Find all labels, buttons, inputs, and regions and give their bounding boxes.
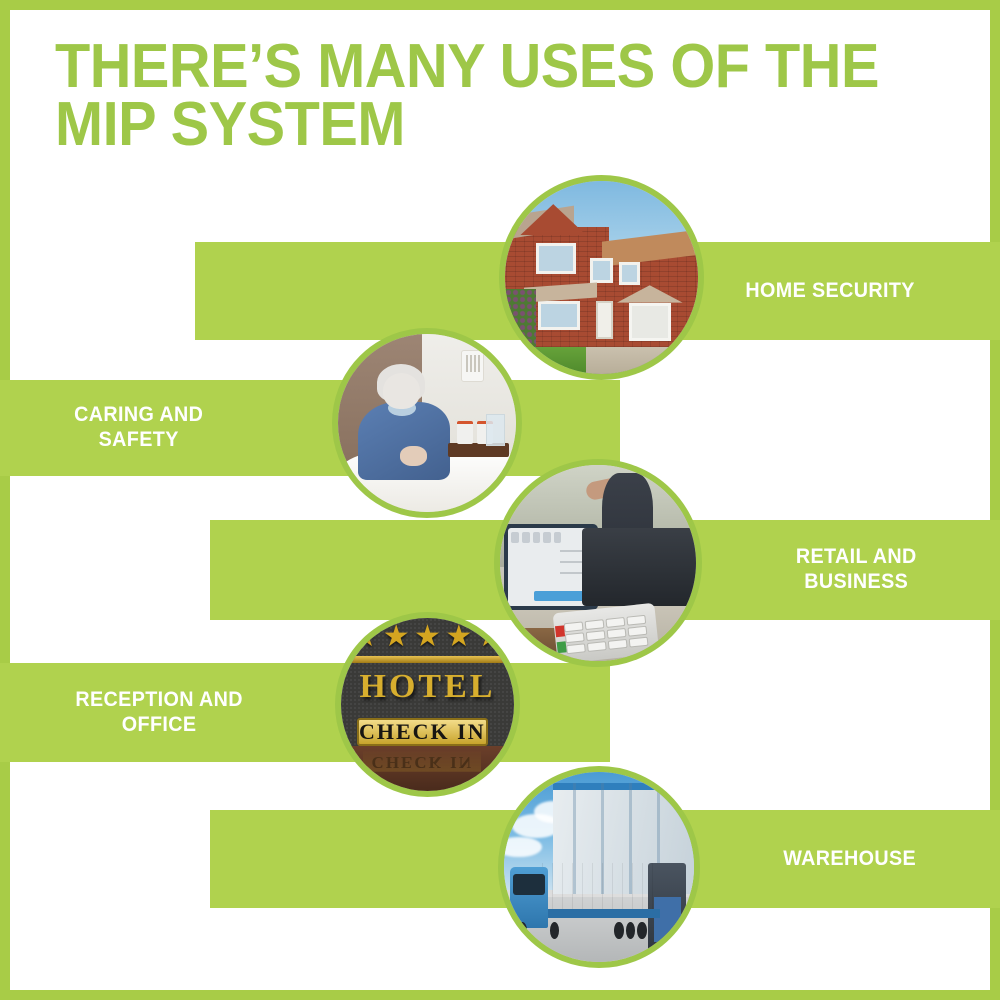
keypad: [564, 615, 648, 654]
bed-control-panel: [461, 350, 484, 382]
retail-pos-photo: [500, 465, 696, 661]
hotel-sign-text: HOTEL: [341, 668, 514, 706]
window-upper-middle: [590, 258, 613, 283]
trailer: [542, 863, 660, 912]
elderly-care-photo: [338, 334, 516, 512]
band-label-warehouse: WAREHOUSE: [783, 847, 916, 872]
band-label-caring-and-safety: CARING AND SAFETY: [74, 403, 203, 453]
band-label-home-security: HOME SECURITY: [745, 279, 914, 304]
cup-one: [457, 421, 473, 444]
card-payment-terminal: [552, 603, 659, 661]
pos-action-button: [534, 591, 587, 601]
hotel-checkin-photo: ★ ★ ★ ★ ★ HOTEL CHECK IN CHECK IN: [341, 618, 514, 791]
wheel: [550, 922, 560, 939]
check-in-plaque-reflection: CHECK IN: [363, 751, 481, 772]
photo-circle-retail-and-business: [494, 459, 702, 667]
star-icon: ★: [445, 622, 472, 652]
warehouse-truck-photo: [504, 772, 694, 962]
check-in-plaque: CHECK IN: [357, 718, 488, 746]
patient-hands: [400, 446, 427, 466]
patient-face: [383, 373, 420, 409]
infographic-poster: THERE’S MANY USES OF THE MIP SYSTEM HOME…: [0, 0, 1000, 1000]
wheel: [614, 922, 624, 939]
band-label-retail-and-business: RETAIL AND BUSINESS: [795, 545, 916, 595]
wheel: [637, 922, 647, 939]
star-icon: ★: [477, 622, 504, 652]
photo-circle-caring-and-safety: [332, 328, 522, 518]
window-upper-left: [536, 243, 577, 274]
cash-drawer: [582, 528, 696, 606]
truck-cab: [510, 867, 548, 928]
gold-trim-bar: [350, 656, 506, 663]
photo-circle-warehouse: [498, 766, 700, 968]
star-icon: ★: [351, 622, 378, 652]
garage-door: [629, 303, 671, 342]
trailer-chassis: [542, 909, 660, 919]
photo-circle-home-security: [499, 175, 704, 380]
water-glass: [486, 414, 506, 446]
window-lower-left: [538, 301, 580, 330]
hotel-star-rating: ★ ★ ★ ★ ★: [351, 623, 503, 651]
front-door: [596, 301, 613, 340]
check-in-plaque-text: CHECK IN: [359, 719, 486, 745]
star-icon: ★: [383, 622, 410, 652]
check-in-reflection-text: CHECK IN: [372, 752, 473, 772]
window-upper-right: [619, 262, 640, 285]
band-caring-and-safety: CARING AND SAFETY: [0, 380, 620, 476]
photo-circle-reception-and-office: ★ ★ ★ ★ ★ HOTEL CHECK IN CHECK IN: [335, 612, 520, 797]
windshield: [513, 874, 545, 895]
star-icon: ★: [414, 622, 441, 652]
page-title: THERE’S MANY USES OF THE MIP SYSTEM: [55, 38, 901, 153]
wheel: [517, 922, 527, 939]
band-label-reception-and-office: RECEPTION AND OFFICE: [75, 688, 243, 738]
pos-screen-buttons: [511, 532, 561, 542]
pos-screen: [508, 528, 594, 606]
house-photo: [505, 181, 698, 374]
wheel: [626, 922, 636, 939]
